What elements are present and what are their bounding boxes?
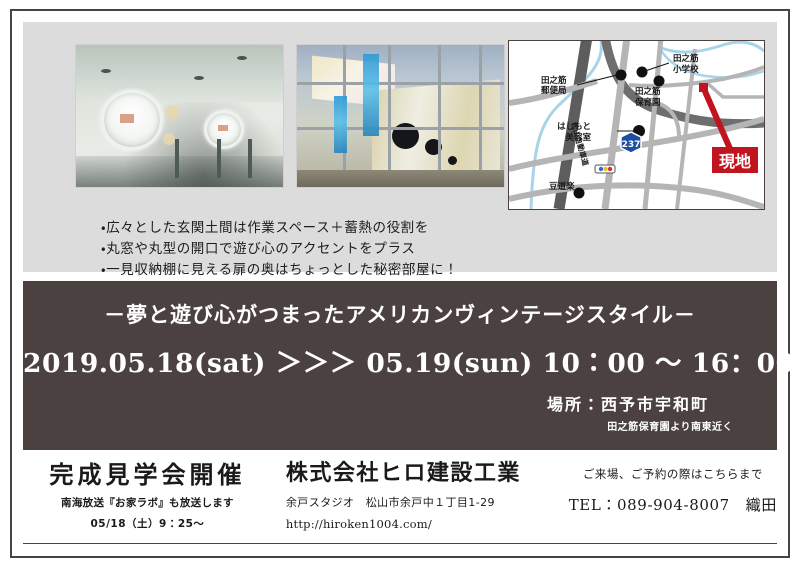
event-banner: －夢と遊び心がつまったアメリカンヴィンテージスタイル－ 2019.05.18(s… — [23, 281, 777, 450]
footer-company-address: 余戸スタジオ 松山市余戸中１丁目1-29 — [286, 494, 563, 510]
poi-dot-shop — [574, 188, 585, 199]
light-spot — [165, 105, 179, 119]
footer-telephone[interactable]: TEL：089-904-8007織田 — [569, 494, 777, 515]
scaffold-rail — [297, 82, 504, 85]
event-tagline: －夢と遊び心がつまったアメリカンヴィンテージスタイル－ — [23, 299, 777, 329]
route-shield-number: 237 — [622, 140, 641, 150]
event-dateline: 2019.05.18(sat) ＞＞＞ 05.19(sun) 10：00 〜 1… — [23, 341, 777, 380]
footer-contact-column: ご来場、ご予約の際はこちらまで TEL：089-904-8007織田 — [563, 460, 777, 556]
flyer-page: 田之筋 郵便局 田之筋 小学校 田之筋 保育園 はしもと 美容室 松山自動車道 … — [0, 0, 800, 566]
footer-company-name: 株式会社ヒロ建設工業 — [286, 460, 563, 488]
map-svg: 田之筋 郵便局 田之筋 小学校 田之筋 保育園 はしもと 美容室 松山自動車道 … — [509, 41, 764, 209]
poi-dot-post-office — [616, 70, 627, 81]
blue-tarp — [334, 96, 347, 153]
location-map[interactable]: 田之筋 郵便局 田之筋 小学校 田之筋 保育園 はしもと 美容室 松山自動車道 … — [508, 40, 765, 210]
event-place-note: 田之筋保育園より南東近く — [607, 418, 733, 433]
round-window-large — [101, 90, 163, 150]
footer-broadcast-time: 05/18（土）9：25〜 — [23, 516, 272, 531]
light-spot — [163, 133, 175, 145]
map-label-shop: 豆道楽 — [549, 181, 575, 192]
photo-exterior-scaffolding — [296, 44, 505, 188]
map-label-post-office-line1: 田之筋 — [541, 75, 567, 86]
footer-company-column: 株式会社ヒロ建設工業 余戸スタジオ 松山市余戸中１丁目1-29 http://h… — [272, 460, 563, 556]
ground-area — [297, 170, 504, 187]
footer: 完成見学会開催 南海放送『お家ラボ』も放送します 05/18（土）9：25〜 株… — [23, 450, 777, 556]
event-place: 場所：西予市宇和町 — [547, 391, 709, 415]
poi-dot-nursery — [654, 76, 665, 87]
scaffold-rail — [297, 127, 504, 130]
top-panel: 田之筋 郵便局 田之筋 小学校 田之筋 保育園 はしもと 美容室 松山自動車道 … — [23, 22, 777, 272]
feature-bullets: ・広々とした玄関土間は作業スペース＋蓄熱の役割を ・丸窓や丸型の開口で遊び心のア… — [101, 218, 458, 281]
wall-opening-small — [448, 156, 457, 165]
photo-group — [75, 44, 505, 188]
photo-interior-round-windows — [75, 44, 284, 188]
scaffold-post — [438, 45, 441, 187]
feature-bullet: ・広々とした玄関土間は作業スペース＋蓄熱の役割を — [101, 218, 458, 239]
map-label-school-line2: 小学校 — [672, 64, 699, 75]
scaffold-post — [388, 45, 391, 187]
route-shield-237: 237 — [621, 132, 641, 153]
map-label-nursery-line1: 田之筋 — [635, 86, 661, 97]
ceiling-area — [76, 45, 283, 102]
round-window-small — [204, 110, 244, 149]
blue-tarp — [363, 54, 379, 136]
footer-contact-person: 織田 — [746, 496, 777, 514]
support-pipe — [217, 139, 221, 179]
footer-company-url[interactable]: http://hiroken1004.com/ — [286, 517, 563, 531]
map-label-school-line1: 田之筋 — [673, 53, 699, 64]
footer-divider — [23, 543, 777, 544]
footer-broadcast-note: 南海放送『お家ラボ』も放送します — [23, 495, 272, 510]
footer-contact-note: ご来場、ご予約の際はこちらまで — [569, 466, 777, 482]
traffic-signal-icon — [595, 165, 615, 173]
map-label-post-office-line2: 郵便局 — [541, 85, 567, 96]
support-pipe — [248, 139, 252, 179]
floor-area — [76, 156, 283, 187]
feature-bullet: ・一見収納棚に見える扉の奥はちょっとした秘密部屋に！ — [101, 260, 458, 281]
footer-event-column: 完成見学会開催 南海放送『お家ラボ』も放送します 05/18（土）9：25〜 — [23, 460, 272, 556]
site-label-text: 現地 — [719, 152, 751, 171]
map-label-nursery-line2: 保育園 — [634, 97, 661, 108]
support-pipe — [175, 139, 179, 179]
feature-bullet: ・丸窓や丸型の開口で遊び心のアクセントをプラス — [101, 239, 458, 260]
footer-tel-label: TEL：089-904-8007 — [569, 496, 730, 514]
flyer-frame: 田之筋 郵便局 田之筋 小学校 田之筋 保育園 はしもと 美容室 松山自動車道 … — [10, 9, 790, 558]
footer-event-title: 完成見学会開催 — [23, 460, 272, 490]
scaffold-post — [479, 45, 482, 187]
